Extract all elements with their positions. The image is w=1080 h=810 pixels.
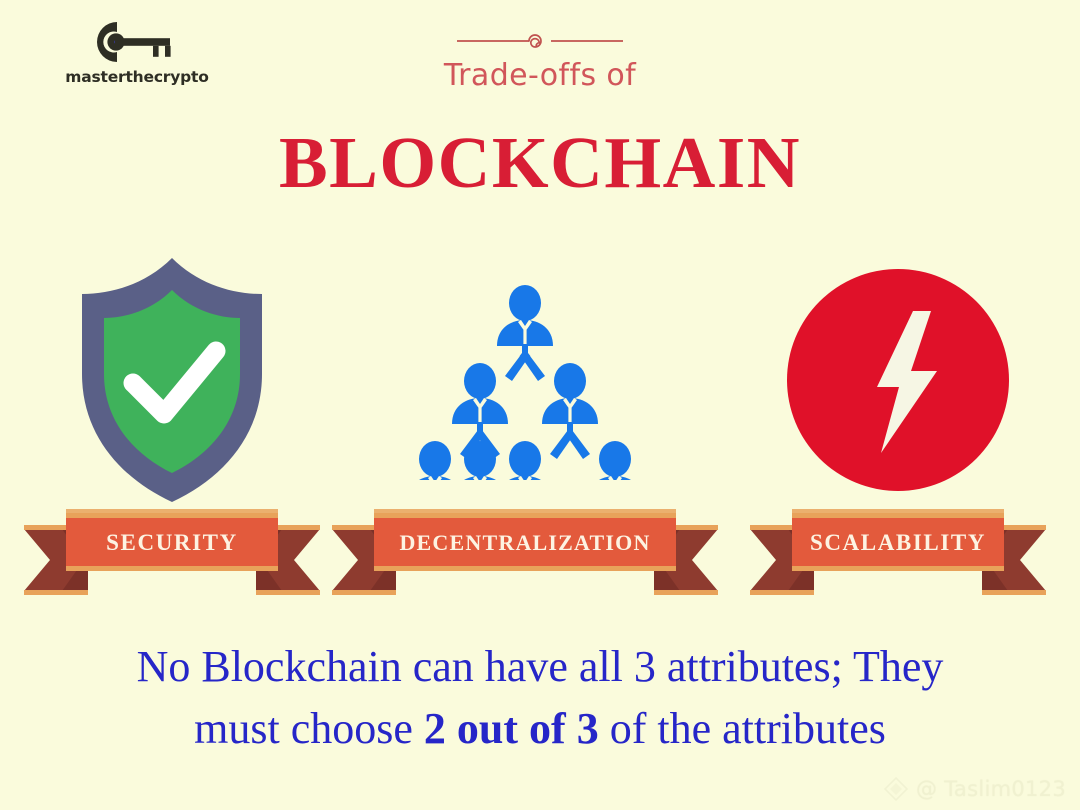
- watermark: @ Taslim0123: [883, 776, 1066, 802]
- diamond-logo-icon: [883, 776, 909, 802]
- statement-line-2-post: of the attributes: [599, 704, 886, 753]
- lightning-bolt-circle-icon: [785, 267, 1011, 493]
- statement-text: No Blockchain can have all 3 attributes;…: [50, 636, 1030, 760]
- kicker-text: Trade-offs of: [0, 58, 1080, 93]
- network-hierarchy-icon: [411, 280, 639, 480]
- statement-line-2-pre: must choose: [194, 704, 424, 753]
- shield-check-icon: [76, 256, 268, 504]
- ribbon-label-security: SECURITY: [22, 523, 322, 563]
- infographic-canvas: masterthecrypto Trade-offs of BLOCKCHAIN: [0, 0, 1080, 810]
- ribbon-label-decentralization: DECENTRALIZATION: [330, 523, 720, 563]
- ribbon-security: SECURITY: [22, 505, 322, 600]
- pillar-scalability-art: [748, 255, 1048, 505]
- pillars-row: SECURITY: [0, 255, 1080, 610]
- ribbon-decentralization: DECENTRALIZATION: [330, 505, 720, 600]
- pillar-scalability: SCALABILITY: [748, 255, 1048, 610]
- ribbon-label-scalability: SCALABILITY: [748, 523, 1048, 563]
- pillar-decentralization-art: [330, 255, 720, 505]
- ribbon-scalability: SCALABILITY: [748, 505, 1048, 600]
- page-title: BLOCKCHAIN: [0, 126, 1080, 199]
- pillar-decentralization: DECENTRALIZATION: [330, 255, 720, 610]
- pillar-security: SECURITY: [22, 255, 322, 610]
- watermark-text: @ Taslim0123: [916, 777, 1066, 801]
- pillar-security-art: [22, 255, 322, 505]
- spiral-divider-icon: [455, 30, 625, 52]
- statement-emphasis: 2 out of 3: [424, 704, 599, 753]
- statement-line-1: No Blockchain can have all 3 attributes;…: [137, 642, 944, 691]
